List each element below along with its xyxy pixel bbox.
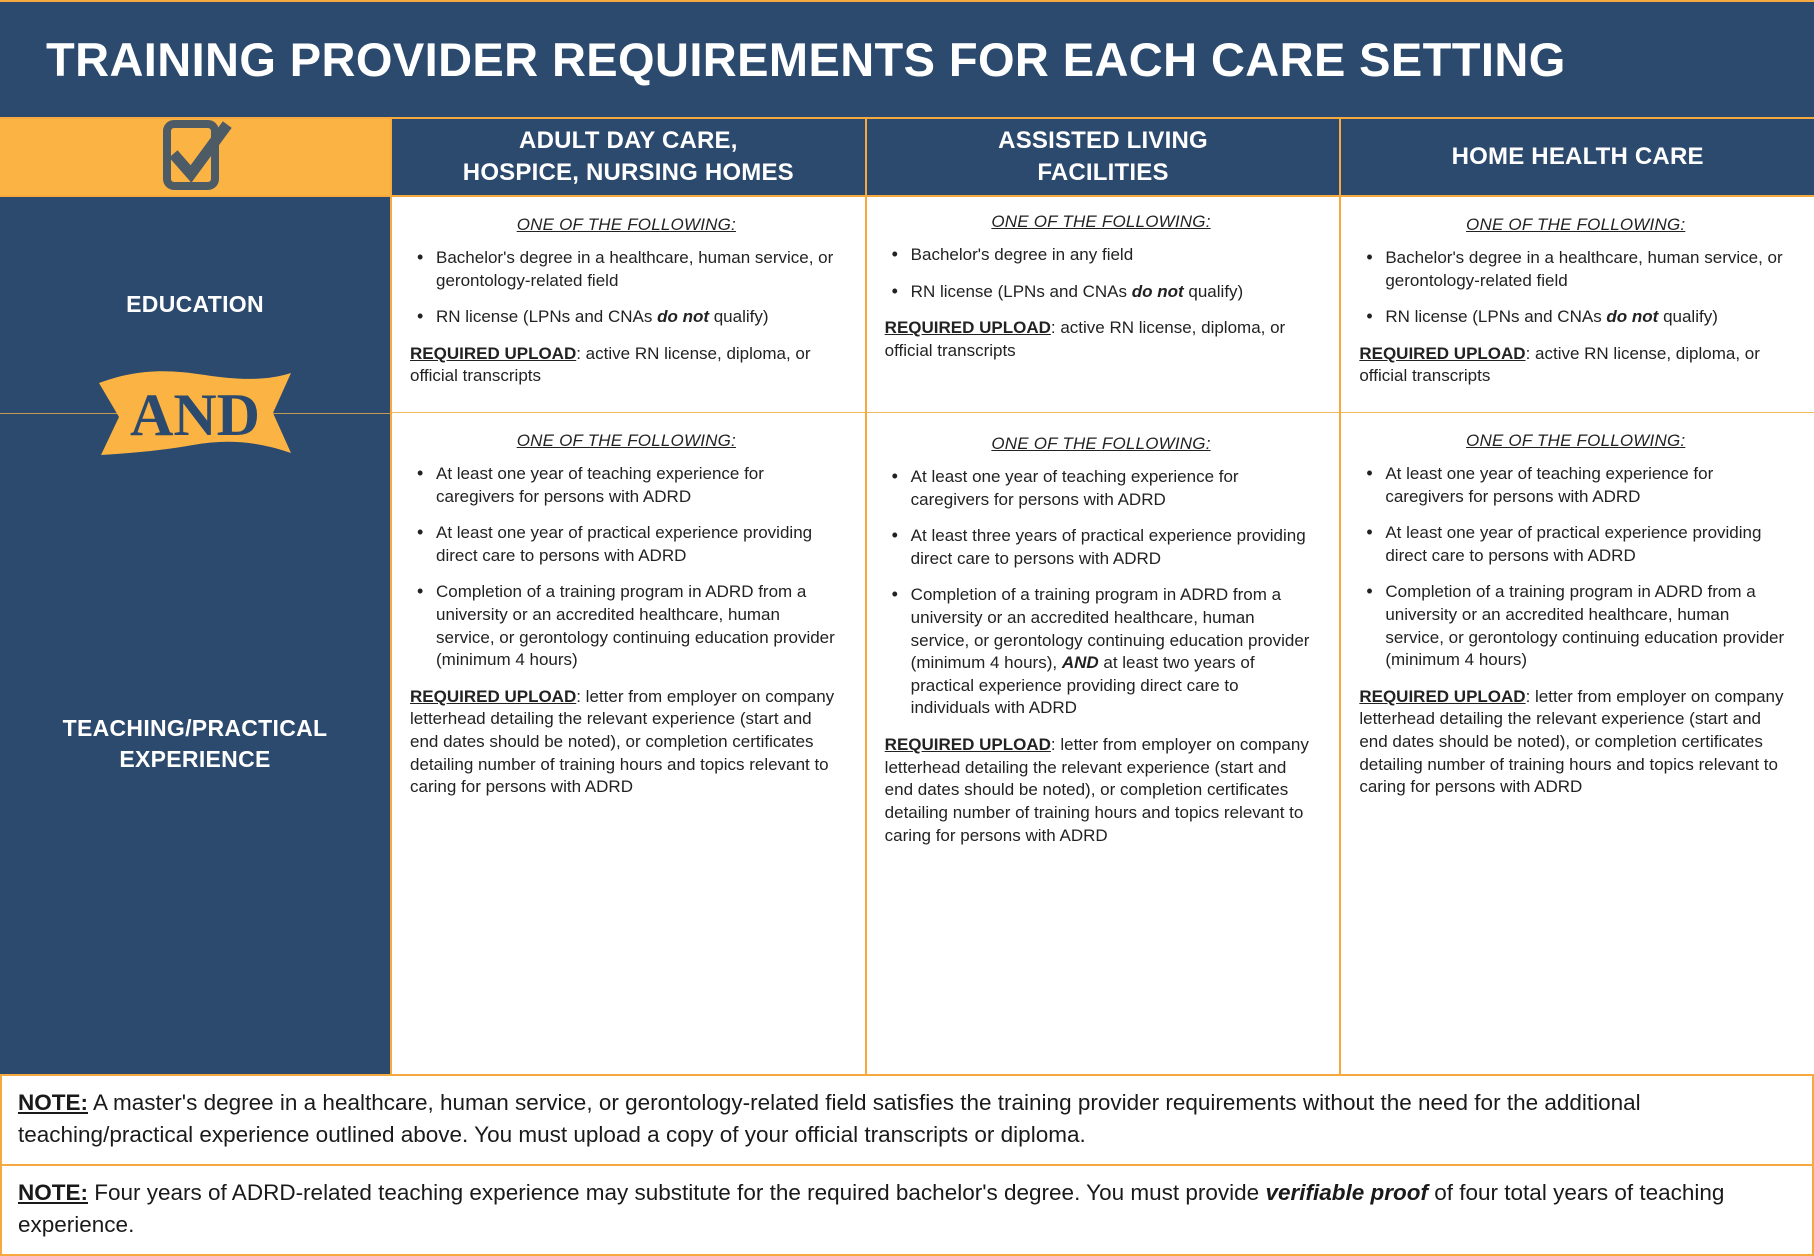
bullet-emphasis: AND <box>1062 653 1099 672</box>
one-of-the-following-label: ONE OF THE FOLLOWING: <box>1359 215 1792 235</box>
row-label-education: EDUCATION <box>0 197 390 413</box>
row-label-education-text: EDUCATION <box>126 289 264 320</box>
list-item: Bachelor's degree in a healthcare, human… <box>1359 247 1792 292</box>
bullet-text: Bachelor's degree in a healthcare, human… <box>1385 248 1782 290</box>
required-upload-note: REQUIRED UPLOAD: active RN license, dipl… <box>410 343 843 388</box>
list-item: At least three years of practical experi… <box>885 525 1318 570</box>
required-upload-label: REQUIRED UPLOAD <box>1359 344 1525 363</box>
cell-education-home-health-care: ONE OF THE FOLLOWING: Bachelor's degree … <box>1341 197 1814 413</box>
note-text: A master's degree in a healthcare, human… <box>18 1090 1641 1147</box>
note-four-years-substitution: NOTE: Four years of ADRD-related teachin… <box>0 1165 1814 1256</box>
content-column-adult-day-care: ONE OF THE FOLLOWING: Bachelor's degree … <box>390 197 865 1074</box>
column-header-line1: ASSISTED LIVING <box>998 127 1208 154</box>
list-item: RN license (LPNs and CNAs do not qualify… <box>1359 306 1792 329</box>
list-item: Completion of a training program in ADRD… <box>885 584 1318 720</box>
column-header-adult-day-care: ADULT DAY CARE, HOSPICE, NURSING HOMES <box>390 119 865 195</box>
note-text: Four years of ADRD-related teaching expe… <box>88 1180 1265 1205</box>
content-column-home-health-care: ONE OF THE FOLLOWING: Bachelor's degree … <box>1339 197 1814 1074</box>
bullet-text: At least one year of teaching experience… <box>911 467 1239 509</box>
header-icon-cell <box>0 119 390 195</box>
content-column-assisted-living: ONE OF THE FOLLOWING: Bachelor's degree … <box>865 197 1340 1074</box>
cell-experience-home-health-care: ONE OF THE FOLLOWING: At least one year … <box>1341 413 1814 1074</box>
column-header-assisted-living: ASSISTED LIVING FACILITIES <box>865 119 1340 195</box>
bullet-text: RN license (LPNs and CNAs <box>911 282 1132 301</box>
bullet-text: RN license (LPNs and CNAs <box>1385 307 1606 326</box>
bullet-text: Completion of a training program in ADRD… <box>1385 582 1784 669</box>
column-header-line1: HOME HEALTH CARE <box>1452 143 1704 170</box>
one-of-the-following-label: ONE OF THE FOLLOWING: <box>1359 431 1792 451</box>
note-masters-degree: NOTE: A master's degree in a healthcare,… <box>0 1074 1814 1165</box>
list-item: At least one year of teaching experience… <box>410 463 843 508</box>
required-upload-note: REQUIRED UPLOAD: letter from employer on… <box>410 686 843 799</box>
bullet-text: Bachelor's degree in a healthcare, human… <box>436 248 833 290</box>
bullet-emphasis: do not <box>1132 282 1184 301</box>
one-of-the-following-label: ONE OF THE FOLLOWING: <box>885 434 1318 454</box>
note-label: NOTE: <box>18 1180 88 1205</box>
required-upload-note: REQUIRED UPLOAD: letter from employer on… <box>885 734 1318 847</box>
cell-education-assisted-living: ONE OF THE FOLLOWING: Bachelor's degree … <box>867 197 1340 413</box>
required-upload-label: REQUIRED UPLOAD <box>410 344 576 363</box>
list-item: At least one year of teaching experience… <box>1359 463 1792 508</box>
note-label: NOTE: <box>18 1090 88 1115</box>
list-item: At least one year of teaching experience… <box>885 466 1318 511</box>
notes-section: NOTE: A master's degree in a healthcare,… <box>0 1074 1814 1256</box>
column-header-line2: FACILITIES <box>1037 159 1168 186</box>
required-upload-label: REQUIRED UPLOAD <box>1359 687 1525 706</box>
list-item: At least one year of practical experienc… <box>410 522 843 567</box>
bullet-text: Completion of a training program in ADRD… <box>436 582 835 669</box>
list-item: Completion of a training program in ADRD… <box>1359 581 1792 671</box>
bullet-emphasis: do not <box>657 307 709 326</box>
bullet-text-post: qualify) <box>1184 282 1244 301</box>
requirement-list: At least one year of teaching experience… <box>885 466 1318 720</box>
list-item: RN license (LPNs and CNAs do not qualify… <box>410 306 843 329</box>
bullet-text: RN license (LPNs and CNAs <box>436 307 657 326</box>
cell-experience-assisted-living: ONE OF THE FOLLOWING: At least one year … <box>867 413 1340 1074</box>
bullet-text: At least one year of practical experienc… <box>1385 523 1761 565</box>
checkbox-checked-icon <box>158 118 232 197</box>
bullet-text-post: qualify) <box>709 307 769 326</box>
note-emphasis: verifiable proof <box>1265 1180 1428 1205</box>
bullet-text: At least one year of teaching experience… <box>436 464 764 506</box>
required-upload-note: REQUIRED UPLOAD: letter from employer on… <box>1359 686 1792 799</box>
required-upload-note: REQUIRED UPLOAD: active RN license, dipl… <box>1359 343 1792 388</box>
list-item: Bachelor's degree in a healthcare, human… <box>410 247 843 292</box>
bullet-text-post: qualify) <box>1658 307 1718 326</box>
row-label-experience-text: TEACHING/PRACTICAL EXPERIENCE <box>14 713 376 775</box>
one-of-the-following-label: ONE OF THE FOLLOWING: <box>410 215 843 235</box>
column-header-line2: HOSPICE, NURSING HOMES <box>463 159 794 186</box>
required-upload-label: REQUIRED UPLOAD <box>410 687 576 706</box>
column-header-line1: ADULT DAY CARE, <box>519 127 738 154</box>
row-label-experience: TEACHING/PRACTICAL EXPERIENCE <box>0 413 390 1074</box>
list-item: RN license (LPNs and CNAs do not qualify… <box>885 281 1318 304</box>
table-header-row: ADULT DAY CARE, HOSPICE, NURSING HOMES A… <box>0 117 1814 197</box>
page-title: TRAINING PROVIDER REQUIREMENTS FOR EACH … <box>46 35 1566 84</box>
list-item: Bachelor's degree in any field <box>885 244 1318 267</box>
list-item: Completion of a training program in ADRD… <box>410 581 843 671</box>
required-upload-label: REQUIRED UPLOAD <box>885 735 1051 754</box>
bullet-text: At least one year of teaching experience… <box>1385 464 1713 506</box>
requirement-list: At least one year of teaching experience… <box>1359 463 1792 672</box>
cell-education-adult-day-care: ONE OF THE FOLLOWING: Bachelor's degree … <box>392 197 865 413</box>
list-item: At least one year of practical experienc… <box>1359 522 1792 567</box>
one-of-the-following-label: ONE OF THE FOLLOWING: <box>410 431 843 451</box>
bullet-text: Bachelor's degree in any field <box>911 245 1134 264</box>
row-label-column: EDUCATION TEACHING/PRACTICAL EXPERIENCE … <box>0 197 390 1074</box>
bullet-text: At least one year of practical experienc… <box>436 523 812 565</box>
bullet-text: At least three years of practical experi… <box>911 526 1306 568</box>
table-body: EDUCATION TEACHING/PRACTICAL EXPERIENCE … <box>0 197 1814 1074</box>
requirement-list: At least one year of teaching experience… <box>410 463 843 672</box>
required-upload-note: REQUIRED UPLOAD: active RN license, dipl… <box>885 317 1318 362</box>
required-upload-label: REQUIRED UPLOAD <box>885 318 1051 337</box>
column-header-home-health-care: HOME HEALTH CARE <box>1339 119 1814 195</box>
requirement-list: Bachelor's degree in any field RN licens… <box>885 244 1318 303</box>
one-of-the-following-label: ONE OF THE FOLLOWING: <box>885 212 1318 232</box>
training-requirements-infographic: TRAINING PROVIDER REQUIREMENTS FOR EACH … <box>0 0 1814 1256</box>
bullet-emphasis: do not <box>1606 307 1658 326</box>
title-bar: TRAINING PROVIDER REQUIREMENTS FOR EACH … <box>0 0 1814 117</box>
cell-experience-adult-day-care: ONE OF THE FOLLOWING: At least one year … <box>392 413 865 1074</box>
requirement-list: Bachelor's degree in a healthcare, human… <box>1359 247 1792 329</box>
requirement-list: Bachelor's degree in a healthcare, human… <box>410 247 843 329</box>
